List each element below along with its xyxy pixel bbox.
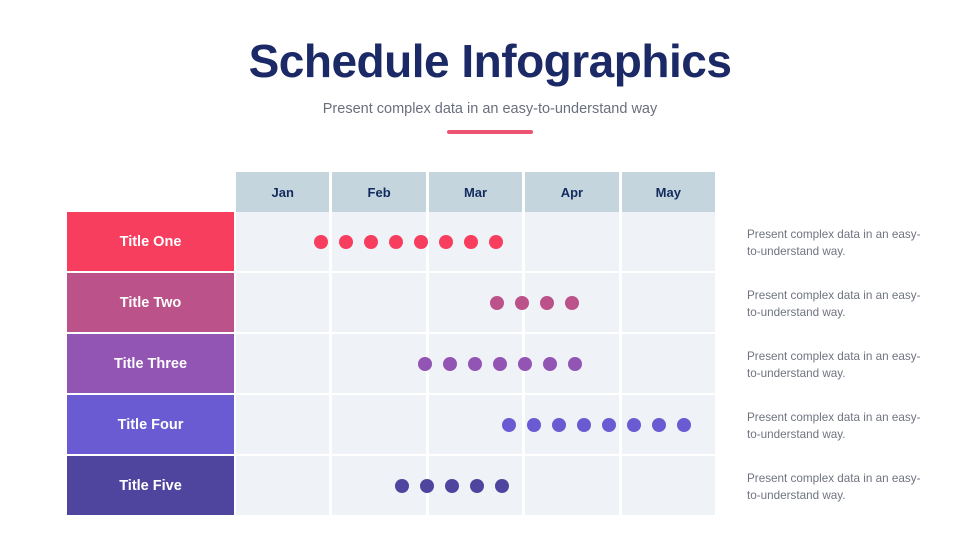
row-description-3: Present complex data in an easy-to-under… [747, 348, 932, 383]
row-label-5[interactable]: Title Five [67, 456, 234, 515]
table-row: Title FivePresent complex data in an eas… [67, 456, 917, 517]
schedule-dot [568, 357, 582, 371]
table-row: Title OnePresent complex data in an easy… [67, 212, 917, 273]
schedule-dot [489, 235, 503, 249]
row-description-2: Present complex data in an easy-to-under… [747, 287, 932, 322]
schedule-dot [364, 235, 378, 249]
row-description-4: Present complex data in an easy-to-under… [747, 409, 932, 444]
schedule-dot [443, 357, 457, 371]
table-row: Title ThreePresent complex data in an ea… [67, 334, 917, 395]
schedule-dot [677, 418, 691, 432]
schedule-dot [515, 296, 529, 310]
month-header-mar: Mar [429, 172, 522, 213]
month-header-jan: Jan [236, 172, 329, 213]
month-header-may: May [622, 172, 715, 213]
row-dots-5 [236, 456, 715, 515]
row-label-2[interactable]: Title Two [67, 273, 234, 332]
page-subtitle: Present complex data in an easy-to-under… [0, 101, 980, 117]
schedule-dot [502, 418, 516, 432]
schedule-dot [418, 357, 432, 371]
month-header-feb: Feb [332, 172, 425, 213]
schedule-dot [490, 296, 504, 310]
row-dots-3 [236, 334, 715, 393]
schedule-dot [493, 357, 507, 371]
schedule-dot [577, 418, 591, 432]
schedule-dot [439, 235, 453, 249]
row-label-3[interactable]: Title Three [67, 334, 234, 393]
schedule-dot [468, 357, 482, 371]
schedule-dot [565, 296, 579, 310]
row-dots-1 [236, 212, 715, 271]
accent-divider [447, 130, 533, 134]
schedule-dot [527, 418, 541, 432]
header: Schedule Infographics Present complex da… [0, 36, 980, 134]
month-header-apr: Apr [525, 172, 618, 213]
table-row: Title FourPresent complex data in an eas… [67, 395, 917, 456]
row-description-5: Present complex data in an easy-to-under… [747, 470, 932, 505]
schedule-dot [540, 296, 554, 310]
schedule-dot [395, 479, 409, 493]
schedule-dot [314, 235, 328, 249]
schedule-dot [552, 418, 566, 432]
row-dots-2 [236, 273, 715, 332]
schedule-dot [464, 235, 478, 249]
page-title: Schedule Infographics [0, 36, 980, 87]
row-label-1[interactable]: Title One [67, 212, 234, 271]
schedule-dot [518, 357, 532, 371]
schedule-dot [495, 479, 509, 493]
schedule-dot [445, 479, 459, 493]
schedule-dot [602, 418, 616, 432]
row-dots-4 [236, 395, 715, 454]
schedule-dot [420, 479, 434, 493]
schedule-dot [470, 479, 484, 493]
slide-root: Schedule Infographics Present complex da… [0, 0, 980, 551]
schedule-dot [543, 357, 557, 371]
schedule-dot [652, 418, 666, 432]
month-header-row: JanFebMarAprMay [236, 172, 715, 213]
schedule-dot [414, 235, 428, 249]
row-label-4[interactable]: Title Four [67, 395, 234, 454]
schedule-rows: Title OnePresent complex data in an easy… [67, 212, 917, 517]
table-row: Title TwoPresent complex data in an easy… [67, 273, 917, 334]
row-description-1: Present complex data in an easy-to-under… [747, 226, 932, 261]
schedule-dot [627, 418, 641, 432]
schedule-dot [389, 235, 403, 249]
schedule-dot [339, 235, 353, 249]
